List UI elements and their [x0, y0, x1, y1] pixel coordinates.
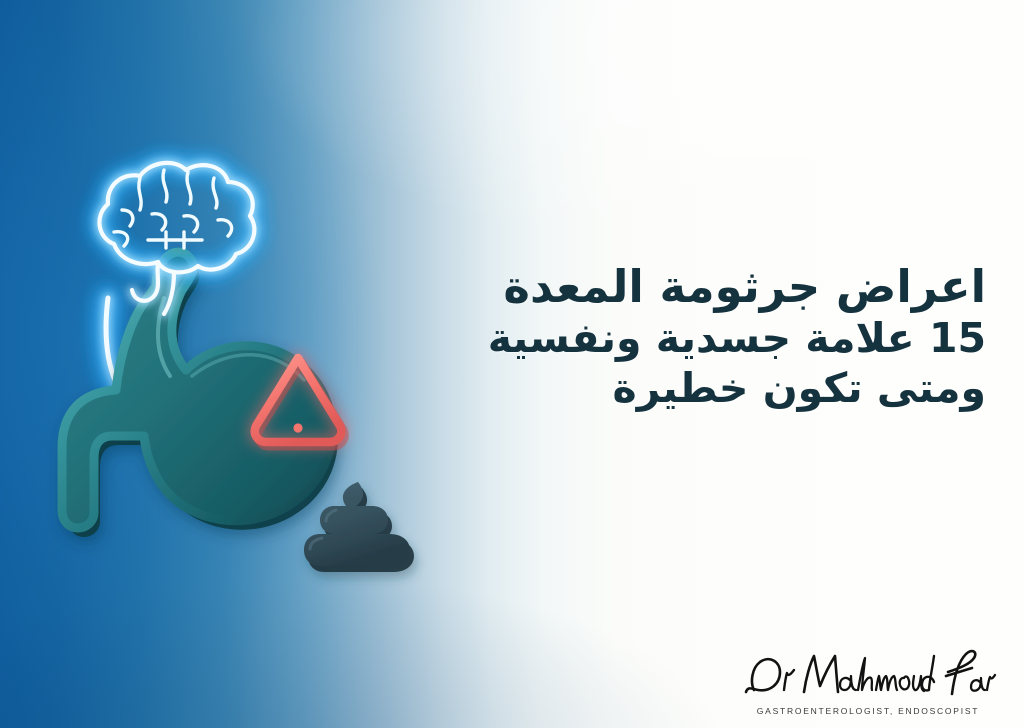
exclamation-glyph — [293, 386, 302, 433]
signature-block: GASTROENTEROLOGIST, ENDOSCOPIST — [738, 642, 998, 716]
headline-line-2: 15 علامة جسدية ونفسية — [416, 316, 986, 362]
headline-line-1: اعراض جرثومة المعدة — [416, 262, 986, 312]
headline-block: اعراض جرثومة المعدة 15 علامة جسدية ونفسي… — [416, 262, 986, 412]
poster-canvas: اعراض جرثومة المعدة 15 علامة جسدية ونفسي… — [0, 0, 1024, 728]
headline-line-3: ومتى تكون خطيرة — [416, 366, 986, 412]
signature-name — [738, 642, 998, 704]
signature-credentials: GASTROENTEROLOGIST, ENDOSCOPIST — [738, 706, 998, 716]
stool-icon — [304, 482, 414, 572]
medical-illustration — [60, 140, 440, 580]
